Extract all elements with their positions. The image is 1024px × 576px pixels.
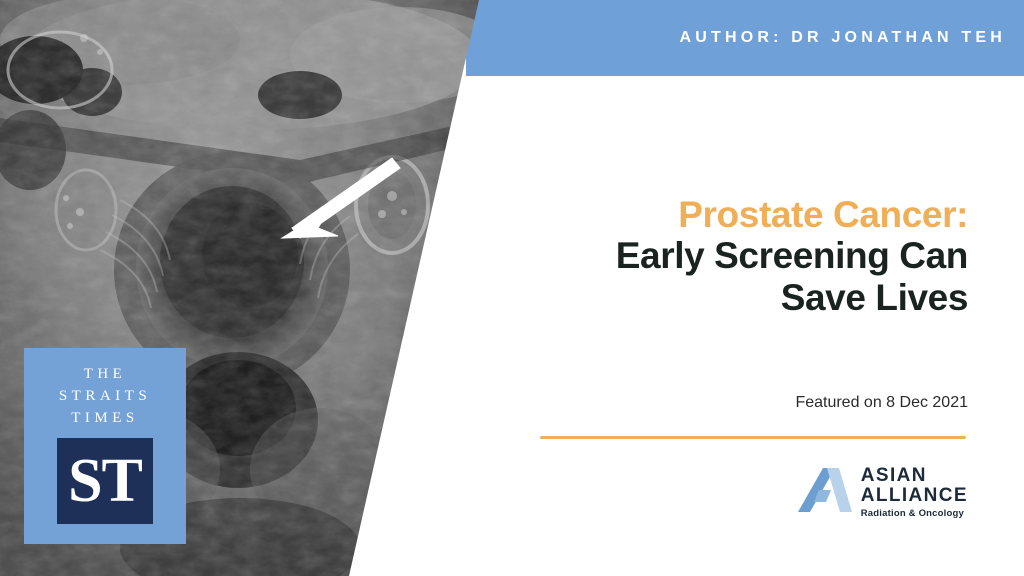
headline-line-3: Save Lives <box>548 277 968 318</box>
author-label: AUTHOR: DR JONATHAN TEH <box>679 0 1006 76</box>
straits-times-badge: THE STRAITS TIMES ST <box>24 348 186 544</box>
headline-line-2: Early Screening Can <box>548 235 968 276</box>
straits-times-wordmark: THE STRAITS TIMES <box>59 364 151 429</box>
clinic-logo: ASIAN ALLIANCE Radiation & Oncology <box>797 462 968 519</box>
divider-rule <box>540 436 966 439</box>
st-word-line-2: STRAITS <box>59 386 151 408</box>
clinic-name-line-2: ALLIANCE <box>861 486 968 506</box>
st-word-line-1: THE <box>59 364 151 386</box>
st-word-line-3: TIMES <box>59 408 151 430</box>
page-title: Prostate Cancer: Early Screening Can Sav… <box>548 194 968 318</box>
content-column: Prostate Cancer: Early Screening Can Sav… <box>500 76 1024 576</box>
clinic-subtitle: Radiation & Oncology <box>861 508 968 519</box>
article-banner: THE STRAITS TIMES ST AUTHOR: DR JONATHAN… <box>0 0 1024 576</box>
asian-alliance-a-mark-icon <box>797 462 853 518</box>
st-monogram-block: ST <box>57 438 153 524</box>
clinic-logo-text: ASIAN ALLIANCE Radiation & Oncology <box>861 462 968 519</box>
clinic-name-line-1: ASIAN <box>861 466 968 486</box>
featured-date: Featured on 8 Dec 2021 <box>548 394 968 412</box>
st-monogram-text: ST <box>68 450 142 512</box>
headline-line-1: Prostate Cancer: <box>548 194 968 235</box>
